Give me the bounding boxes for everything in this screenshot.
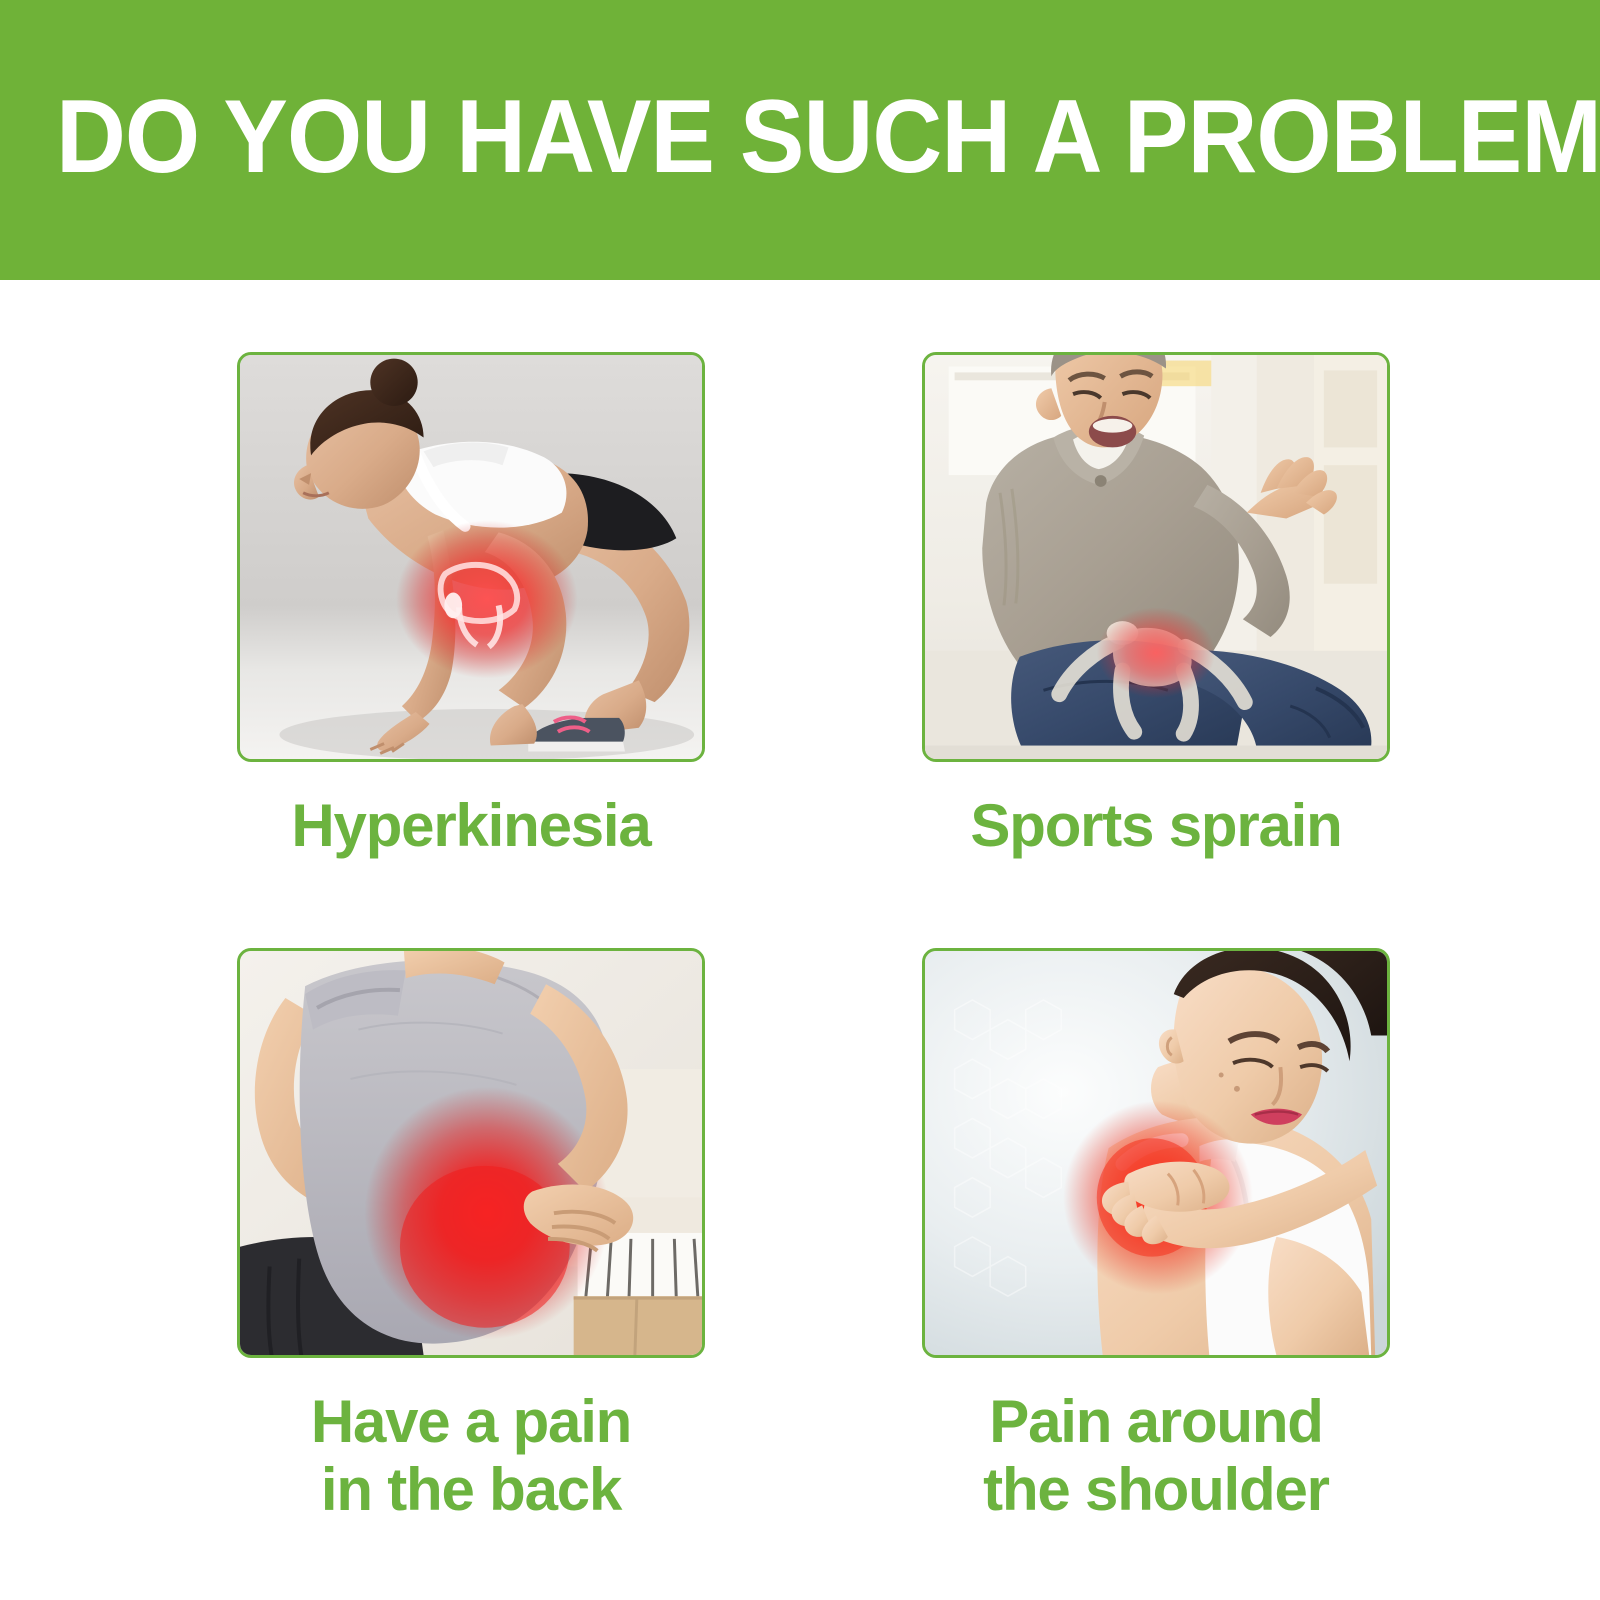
symptom-card-shoulder-pain[interactable]: Pain around the shoulder [922, 948, 1390, 1524]
caption-line: Sports sprain [922, 792, 1390, 860]
header-banner: DO YOU HAVE SUCH A PROBLEM? [0, 0, 1600, 280]
photo-frame-shoulder-pain [922, 948, 1390, 1358]
promo-page: DO YOU HAVE SUCH A PROBLEM? [0, 0, 1600, 1600]
photo-frame-hyperkinesia [237, 352, 705, 762]
page-title: DO YOU HAVE SUCH A PROBLEM? [56, 82, 1544, 192]
caption-line: the shoulder [922, 1456, 1390, 1524]
caption-line: Have a pain [237, 1388, 705, 1456]
card-caption-shoulder-pain: Pain around the shoulder [922, 1388, 1390, 1524]
symptom-card-back-pain[interactable]: Have a pain in the back [237, 948, 705, 1524]
card-caption-hyperkinesia: Hyperkinesia [237, 792, 705, 860]
photo-frame-back-pain [237, 948, 705, 1358]
caption-line: Pain around [922, 1388, 1390, 1456]
lower-back-pain-illustration [240, 951, 702, 1355]
symptom-card-grid: Hyperkinesia [237, 352, 1390, 1542]
man-knee-pain-illustration [925, 355, 1387, 759]
caption-line: in the back [237, 1456, 705, 1524]
card-caption-back-pain: Have a pain in the back [237, 1388, 705, 1524]
photo-frame-sports-sprain [922, 352, 1390, 762]
caption-line: Hyperkinesia [237, 792, 705, 860]
symptom-card-sports-sprain[interactable]: Sports sprain [922, 352, 1390, 860]
card-caption-sports-sprain: Sports sprain [922, 792, 1390, 860]
symptom-card-hyperkinesia[interactable]: Hyperkinesia [237, 352, 705, 860]
runner-knee-pain-illustration [240, 355, 702, 759]
shoulder-pain-illustration [925, 951, 1387, 1355]
